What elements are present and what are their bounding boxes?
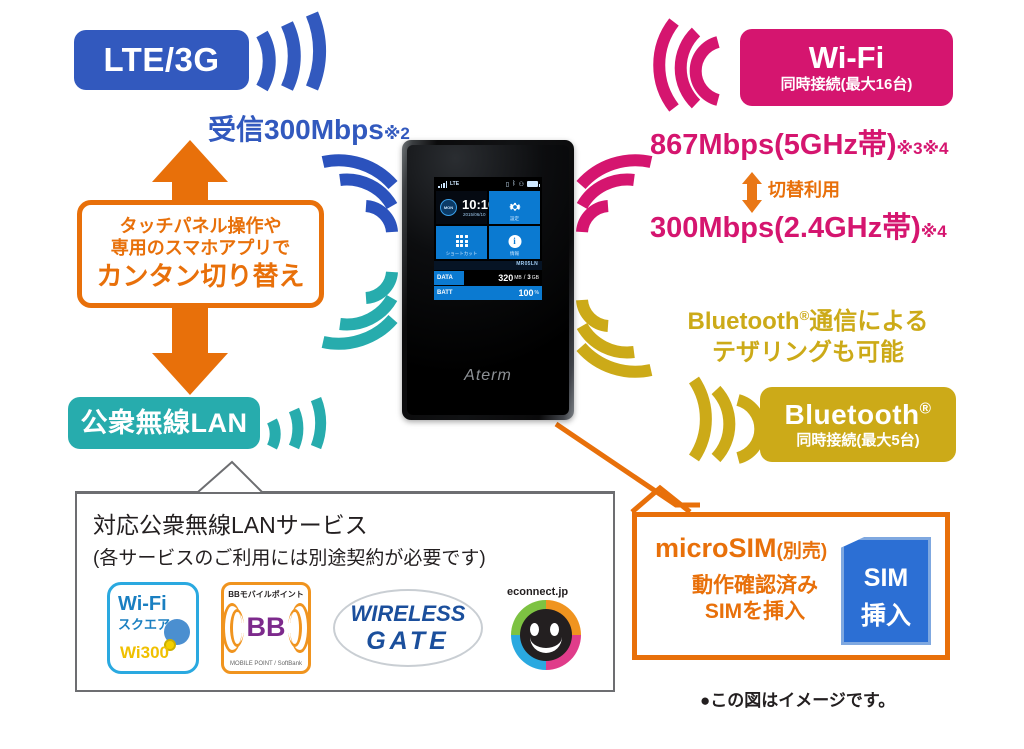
wlan-wave-icon xyxy=(272,399,321,447)
data-total-number: 3 xyxy=(527,275,530,281)
clock-tile[interactable]: MON 10:10 2015/06/10 xyxy=(436,191,487,224)
network-type-label: LTE xyxy=(450,181,459,187)
econnect-eye-right xyxy=(550,623,559,636)
services-callout-pointer xyxy=(198,462,262,492)
lte-3g-label: LTE/3G xyxy=(103,43,219,78)
lte-wave-icon xyxy=(262,14,320,88)
touch-panel-callout: タッチパネル操作や 専用のスマホアプリで カンタン切り替え xyxy=(77,200,324,308)
sim-card-line1: SIM xyxy=(844,564,928,593)
wifi-square-logo-line3: Wi300 xyxy=(120,643,169,663)
wifi-square-logo: Wi-Fi スクエア Wi300 xyxy=(107,582,199,674)
info-icon: i xyxy=(508,235,521,248)
shortcut-tile[interactable]: ショートカット xyxy=(436,226,487,259)
microsim-title-paren: (別売) xyxy=(777,541,828,562)
data-total-unit: GB xyxy=(532,275,539,281)
switch-usage-label: 切替利用 xyxy=(768,176,840,202)
bluetooth-tethering-line1b: 通信による xyxy=(809,308,928,335)
ssid-label: MR05LN xyxy=(516,261,538,267)
wifi-5ghz-note: ※3※4 xyxy=(897,139,949,158)
bluetooth-registered-mark: ® xyxy=(920,401,932,418)
bluetooth-word: Bluetooth xyxy=(688,308,800,335)
diagram-canvas: LTE/3G 受信300Mbps※2 タッチパネル操作や 専用のスマホアプリで … xyxy=(0,0,1024,749)
settings-tile[interactable]: 設定 xyxy=(489,191,540,224)
service-logo-row: Wi-Fi スクエア Wi300 BBモバイルポイント BB MOBILE PO… xyxy=(93,582,597,674)
device-lte-wave-icon xyxy=(323,160,393,232)
settings-tile-caption: 設定 xyxy=(489,216,540,222)
touch-panel-line1: タッチパネル操作や xyxy=(120,216,282,237)
wifi-5ghz-speed-value: 867Mbps(5GHz帯) xyxy=(650,129,897,161)
device-wlan-wave-icon xyxy=(323,272,393,344)
mobile-router-device: LTE ▯ ᛒ ⚇ MON 10:10 2015/06/10 xyxy=(402,140,574,420)
wifi-24ghz-speed-label: 300Mbps(2.4GHz帯)※4 xyxy=(650,204,947,246)
bluetooth-tethering-text: Bluetooth®通信による テザリングも可能 xyxy=(648,306,968,368)
microsim-subtext: 動作確認済み SIMを挿入 xyxy=(665,573,845,626)
microsim-subtext-line2: SIMを挿入 xyxy=(665,599,845,625)
day-badge: MON xyxy=(440,199,457,216)
bb-logo-main-text: BB xyxy=(224,612,308,643)
device-screen[interactable]: LTE ▯ ᛒ ⚇ MON 10:10 2015/06/10 xyxy=(434,177,542,297)
downlink-speed-value: 受信300Mbps xyxy=(208,114,384,145)
lte-3g-badge: LTE/3G xyxy=(74,30,249,90)
wifi-clients-icon: ⚇ xyxy=(519,181,524,188)
data-used-unit: MB xyxy=(514,275,522,281)
econnect-smile xyxy=(530,637,562,653)
downlink-speed-label: 受信300Mbps※2 xyxy=(208,108,410,148)
econnect-eye-left xyxy=(530,623,539,636)
econnect-logo-text: econnect.jp xyxy=(507,586,568,598)
econnect-logo: econnect.jp xyxy=(505,584,591,672)
screen-tiles: MON 10:10 2015/06/10 設定 xyxy=(434,191,542,259)
microsim-title: microSIM(別売) xyxy=(655,533,827,564)
battery-value: 100% xyxy=(464,286,542,300)
microsim-callout-box: microSIM(別売) 動作確認済み SIMを挿入 SIM 挿入 xyxy=(632,512,950,660)
wireless-gate-line1: WIRELESS xyxy=(333,601,483,627)
microsim-subtext-line1: 動作確認済み xyxy=(665,573,845,599)
wifi-sublabel: 同時接続(最大16台) xyxy=(781,77,913,93)
touch-panel-line3: カンタン切り替え xyxy=(96,261,304,292)
battery-unit: % xyxy=(535,290,539,296)
supported-services-title: 対応公衆無線LANサービス xyxy=(93,506,597,540)
microsim-title-main: microSIM xyxy=(655,533,777,563)
bluetooth-icon: ᛒ xyxy=(512,181,516,187)
signal-bars-icon xyxy=(438,181,447,188)
bt-badge-wave-icon xyxy=(694,380,760,458)
bb-mobile-point-logo: BBモバイルポイント BB MOBILE POINT / SoftBank xyxy=(221,582,311,674)
public-wireless-lan-badge: 公衆無線LAN xyxy=(68,397,260,449)
wifi-badge: Wi-Fi 同時接続(最大16台) xyxy=(740,29,953,106)
wifi-5ghz-speed-label: 867Mbps(5GHz帯)※3※4 xyxy=(650,121,949,163)
gear-icon xyxy=(508,200,522,214)
sim-card-line2: 挿入 xyxy=(844,596,928,632)
shortcut-tile-caption: ショートカット xyxy=(436,251,487,257)
wifi-24ghz-note: ※4 xyxy=(921,222,947,241)
bluetooth-badge: Bluetooth® 同時接続(最大5台) xyxy=(760,387,956,462)
ssid-bar: MR05LN xyxy=(434,261,542,270)
sim-card-icon: SIM 挿入 xyxy=(841,537,931,645)
bluetooth-badge-word: Bluetooth xyxy=(785,399,920,430)
data-usage-row: DATA 320MB / 3GB xyxy=(434,271,542,285)
wireless-gate-line2: GATE xyxy=(333,627,483,656)
bluetooth-tethering-line2: テザリングも可能 xyxy=(648,337,968,368)
bluetooth-tethering-line1: Bluetooth®通信による xyxy=(648,306,968,337)
battery-row: BATT 100% xyxy=(434,286,542,300)
data-usage-key: DATA xyxy=(434,271,464,285)
battery-number: 100 xyxy=(519,288,534,298)
wifi-24ghz-speed-value: 300Mbps(2.4GHz帯) xyxy=(650,212,921,244)
econnect-face-icon xyxy=(520,609,572,661)
touch-panel-line2: 専用のスマホアプリで xyxy=(111,238,290,259)
battery-key: BATT xyxy=(434,286,464,300)
data-used-number: 320 xyxy=(498,273,513,283)
device-bt-wave-icon xyxy=(581,300,651,372)
grid-icon xyxy=(456,235,468,247)
info-tile-caption: 情報 xyxy=(489,251,540,257)
wifi-square-logo-line2: スクエア xyxy=(118,614,170,633)
data-separator: / xyxy=(524,275,526,281)
bluetooth-label: Bluetooth® xyxy=(785,400,932,429)
info-tile[interactable]: i 情報 xyxy=(489,226,540,259)
device-wifi-wave-icon xyxy=(581,160,651,232)
public-wireless-lan-label: 公衆無線LAN xyxy=(81,409,248,437)
date-label: 2015/06/10 xyxy=(463,212,486,217)
wifi-badge-wave-icon xyxy=(659,22,718,108)
device-brand-label: Aterm xyxy=(407,367,569,385)
battery-icon xyxy=(527,181,538,187)
wireless-gate-logo: WIRELESS GATE xyxy=(333,589,483,667)
supported-services-subtitle: (各サービスのご利用には別途契約が必要です) xyxy=(93,543,597,570)
bb-logo-top-text: BBモバイルポイント xyxy=(224,589,308,600)
device-body: LTE ▯ ᛒ ⚇ MON 10:10 2015/06/10 xyxy=(407,145,569,415)
bluetooth-sublabel: 同時接続(最大5台) xyxy=(796,433,919,449)
supported-services-box: 対応公衆無線LANサービス (各サービスのご利用には別途契約が必要です) Wi-… xyxy=(75,492,615,692)
sim-icon: ▯ xyxy=(506,181,509,188)
registered-mark: ® xyxy=(799,308,809,323)
screen-statusbar: LTE ▯ ᛒ ⚇ xyxy=(434,177,542,191)
data-usage-value: 320MB / 3GB xyxy=(464,271,542,285)
bb-logo-footer-text: MOBILE POINT / SoftBank xyxy=(224,661,308,667)
wifi-label: Wi-Fi xyxy=(809,42,884,75)
image-disclaimer-note: ●この図はイメージです。 xyxy=(700,686,895,711)
wifi-square-logo-line1: Wi-Fi xyxy=(118,593,167,616)
